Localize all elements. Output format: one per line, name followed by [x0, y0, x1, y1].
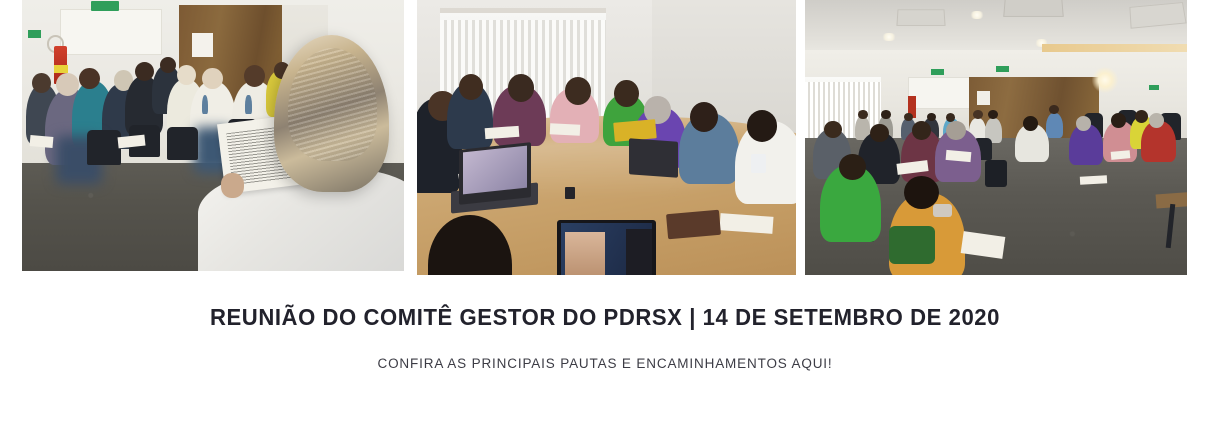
document-on-table: [549, 123, 580, 136]
document-on-table: [485, 125, 520, 138]
audience-head: [244, 65, 265, 87]
caption-block: REUNIÃO DO COMITÊ GESTOR DO PDRSX | 14 D…: [0, 276, 1210, 373]
attendee-head: [1076, 116, 1091, 131]
lanyard-badge: [245, 95, 251, 114]
attendee-scarf: [889, 226, 935, 265]
audience-head: [32, 73, 51, 93]
speaker-head: [274, 35, 389, 192]
door-notice: [192, 33, 213, 57]
phone-on-table: [565, 187, 575, 199]
attendee-head: [1049, 105, 1059, 114]
laptop-videocall: [557, 220, 656, 275]
laptop: [629, 139, 678, 178]
attendee-head: [904, 113, 913, 121]
attendee-head: [912, 121, 931, 140]
video-sidebar-panel: [626, 229, 652, 275]
cove-lighting: [1042, 44, 1187, 52]
speaker-hand: [221, 173, 244, 197]
participant-head: [565, 77, 592, 105]
ceiling-light: [969, 11, 984, 19]
participant-head: [747, 110, 777, 142]
page-title: REUNIÃO DO COMITÊ GESTOR DO PDRSX | 14 D…: [24, 276, 1186, 331]
attendee-head: [824, 121, 842, 138]
audience-head: [177, 65, 196, 85]
attendee-head: [927, 113, 936, 121]
photo-2-scene: [417, 0, 796, 275]
face-mask: [933, 204, 952, 218]
ac-vent: [1003, 0, 1064, 17]
green-sign: [91, 1, 120, 10]
wall-photo-panel: [908, 77, 975, 109]
audience-head: [202, 68, 223, 90]
audience-head: [135, 62, 154, 81]
document-on-table: [720, 213, 774, 233]
participant-head: [508, 74, 535, 102]
ac-vent: [896, 10, 945, 26]
handout-paper: [1080, 175, 1107, 185]
ceiling-light: [881, 33, 896, 41]
photo-speaker-audience[interactable]: [22, 0, 404, 271]
lanyard-badge: [202, 95, 208, 114]
photo-conference-table[interactable]: [417, 0, 796, 275]
photo-1-scene: [22, 0, 404, 271]
attendee-head: [1135, 110, 1148, 123]
door-notice: [977, 91, 990, 105]
wall-sconce-light: [1092, 66, 1119, 94]
attendee-head: [1111, 113, 1126, 128]
photo-strip: [0, 0, 1210, 276]
video-participant-tile: [565, 232, 604, 275]
laptop: [459, 142, 531, 205]
handout-paper: [29, 135, 53, 148]
attendee-head: [858, 110, 867, 119]
exit-sign-icon: [996, 66, 1009, 72]
backpack: [985, 160, 1008, 188]
chair: [87, 130, 121, 165]
participant-head: [614, 80, 639, 108]
attendee-head: [881, 110, 890, 119]
attendee: [1046, 113, 1063, 138]
page-subtitle[interactable]: CONFIRA AS PRINCIPAIS PAUTAS E ENCAMINHA…: [0, 331, 1210, 373]
exit-sign-icon: [28, 30, 41, 38]
exit-sign-icon: [1149, 85, 1159, 90]
photo-3-scene: [805, 0, 1187, 275]
laptop-screen: [463, 146, 526, 194]
wall-photo-panel: [60, 9, 161, 54]
attendee-head: [1023, 116, 1038, 131]
extinguisher-label: [54, 65, 68, 73]
attendee-head: [973, 110, 983, 119]
exit-sign-icon: [931, 69, 944, 75]
audience-head: [160, 57, 176, 73]
handout-paper: [117, 134, 145, 148]
event-banner: REUNIÃO DO COMITÊ GESTOR DO PDRSX | 14 D…: [0, 0, 1210, 423]
chair: [167, 127, 198, 160]
attendee-head: [1149, 113, 1164, 128]
id-badge: [751, 154, 766, 173]
participant-head: [690, 102, 718, 132]
notebook-book: [666, 209, 721, 238]
photo-room-wide[interactable]: [805, 0, 1187, 275]
